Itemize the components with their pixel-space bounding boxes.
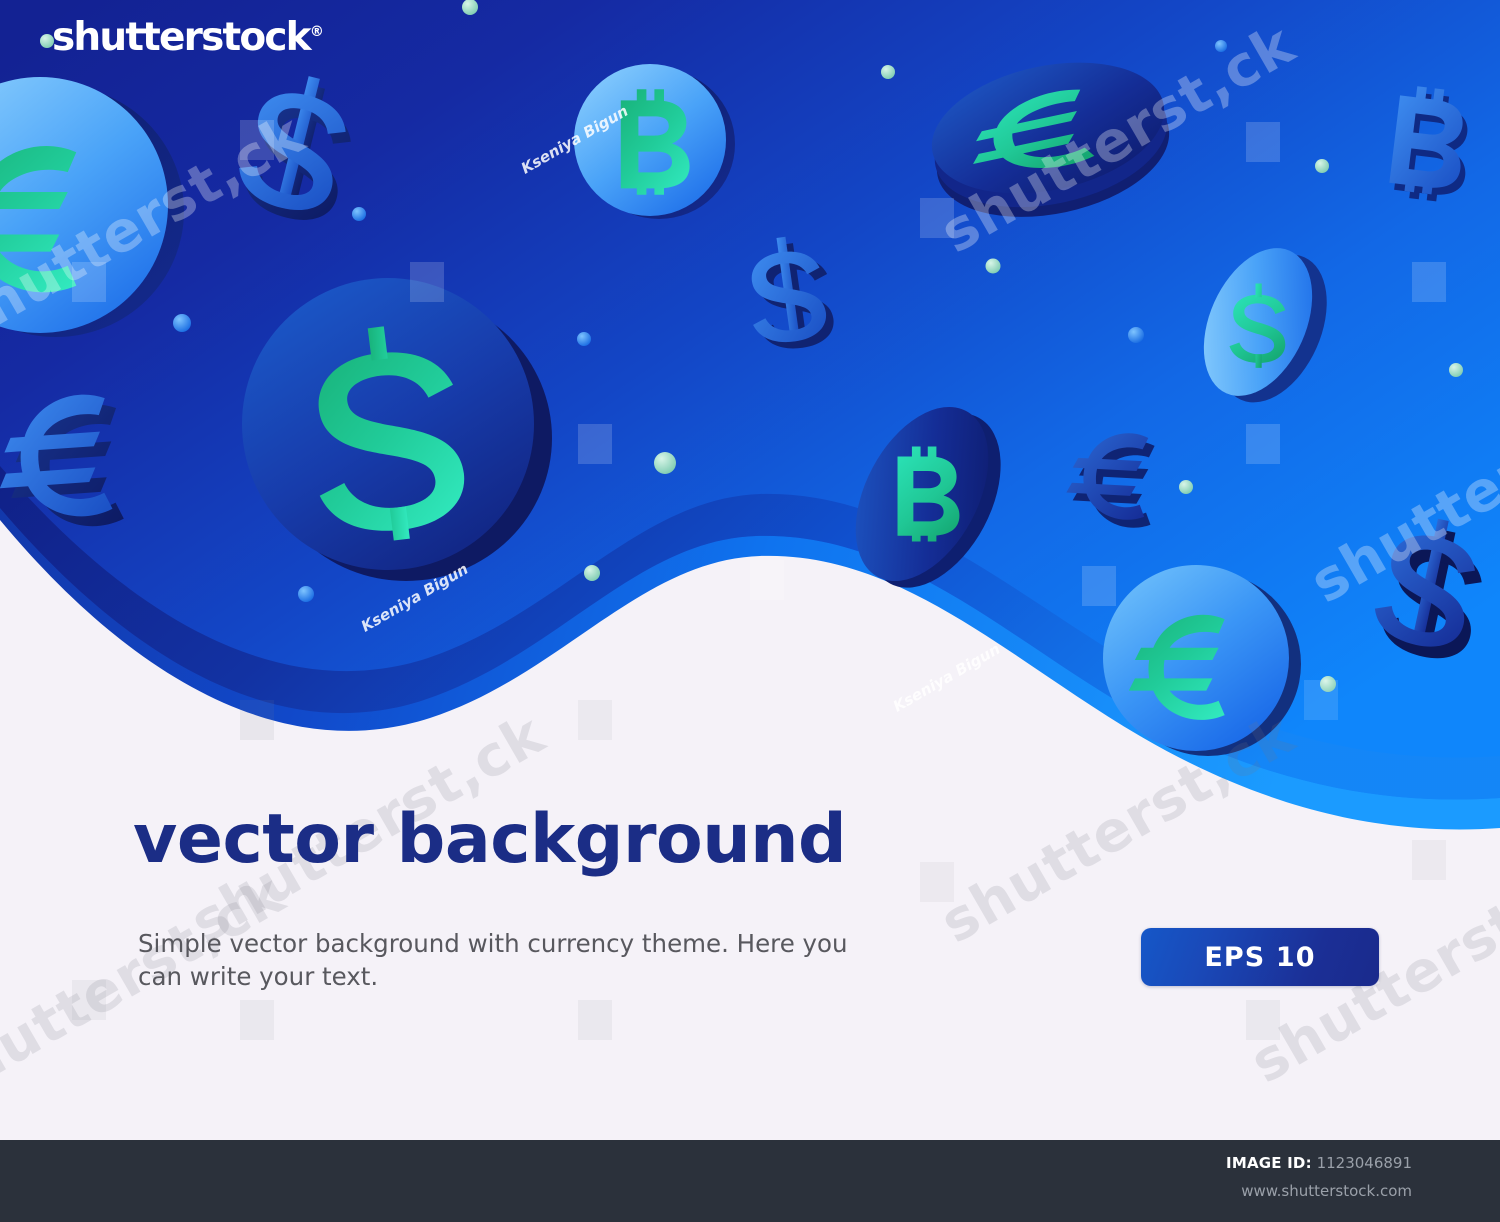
image-id-value: 1123046891	[1317, 1154, 1412, 1172]
shutterstock-wordmark: shutterstock	[52, 15, 310, 60]
shutterstock-logo[interactable]: shutterstock®	[52, 18, 324, 57]
shutterstock-footer-bar	[0, 1140, 1500, 1222]
image-id: IMAGE ID: 1123046891	[1226, 1154, 1412, 1172]
shutterstock-url[interactable]: www.shutterstock.com	[1241, 1182, 1412, 1200]
artwork-canvas: shutterst,ck shutterst,ck shutterst,ck s…	[0, 0, 1500, 1140]
registered-trademark-icon: ®	[310, 24, 324, 40]
screenshot-root: shutterst,ck shutterst,ck shutterst,ck s…	[0, 0, 1500, 1222]
image-id-label: IMAGE ID:	[1226, 1154, 1312, 1172]
page-subtitle: Simple vector background with currency t…	[138, 928, 883, 993]
page-title: vector background	[133, 806, 846, 874]
eps-badge-button[interactable]: EPS 10	[1141, 928, 1379, 986]
